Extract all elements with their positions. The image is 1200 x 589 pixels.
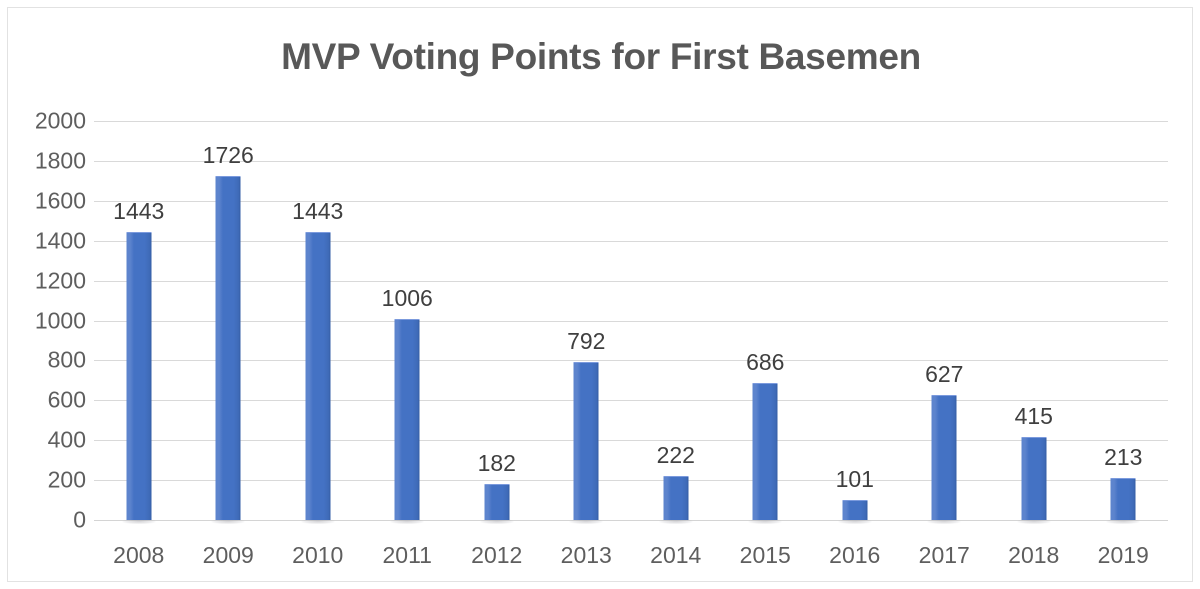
y-axis-tick-label: 0	[16, 507, 86, 534]
chart-frame: MVP Voting Points for First Basemen 2000…	[7, 7, 1193, 582]
y-axis-tick-label: 1400	[16, 227, 86, 254]
bar-slot: 1726	[184, 121, 274, 520]
y-axis-tick-label: 200	[16, 467, 86, 494]
bar[interactable]	[663, 476, 688, 520]
bar[interactable]	[932, 395, 957, 520]
bar[interactable]	[126, 232, 151, 520]
y-axis-tick-label: 1600	[16, 187, 86, 214]
x-axis-tick-label: 2010	[292, 542, 343, 569]
x-axis-tick-label: 2009	[203, 542, 254, 569]
axis-baseline	[94, 520, 1168, 521]
bar-slot: 686	[721, 121, 811, 520]
bar-value-label: 101	[836, 466, 874, 493]
x-axis-tick-label: 2019	[1098, 542, 1149, 569]
x-axis: 2008200920102011201220132014201520162017…	[94, 542, 1168, 582]
y-axis: 2000180016001400120010008006004002000	[8, 121, 86, 520]
y-axis-tick-label: 1800	[16, 147, 86, 174]
y-axis-tick-label: 600	[16, 387, 86, 414]
bar-value-label: 686	[746, 349, 784, 376]
bar[interactable]	[395, 319, 420, 520]
x-axis-tick-label: 2013	[561, 542, 612, 569]
bar-value-label: 415	[1015, 403, 1053, 430]
chart-title: MVP Voting Points for First Basemen	[8, 36, 1194, 78]
bar-value-label: 182	[478, 450, 516, 477]
bar-value-label: 222	[657, 442, 695, 469]
bar[interactable]	[1111, 478, 1136, 520]
bar-slot: 792	[542, 121, 632, 520]
y-axis-tick-label: 800	[16, 347, 86, 374]
bar-slot: 222	[631, 121, 721, 520]
x-axis-tick-label: 2008	[113, 542, 164, 569]
bar-value-label: 1443	[113, 198, 164, 225]
y-axis-tick-label: 2000	[16, 108, 86, 135]
bar-slot: 415	[989, 121, 1079, 520]
x-axis-tick-label: 2015	[740, 542, 791, 569]
bar-slot: 1443	[273, 121, 363, 520]
x-axis-tick-label: 2012	[471, 542, 522, 569]
bar-slot: 1006	[363, 121, 453, 520]
bar-value-label: 1006	[382, 285, 433, 312]
bar[interactable]	[842, 500, 867, 520]
x-axis-tick-label: 2016	[829, 542, 880, 569]
bar-value-label: 792	[567, 328, 605, 355]
x-axis-tick-label: 2014	[650, 542, 701, 569]
x-axis-tick-label: 2011	[383, 542, 432, 569]
y-axis-tick-label: 400	[16, 427, 86, 454]
plot-area: 1443172614431006182792222686101627415213	[94, 121, 1168, 520]
x-axis-tick-label: 2018	[1008, 542, 1059, 569]
bar[interactable]	[216, 176, 241, 520]
bar-value-label: 627	[925, 361, 963, 388]
bar[interactable]	[484, 484, 509, 520]
bar-slot: 627	[900, 121, 990, 520]
x-axis-tick-label: 2017	[919, 542, 970, 569]
y-axis-tick-label: 1000	[16, 307, 86, 334]
bar-slot: 101	[810, 121, 900, 520]
y-axis-tick-label: 1200	[16, 267, 86, 294]
bar[interactable]	[753, 383, 778, 520]
bar[interactable]	[1021, 437, 1046, 520]
bar-slot: 213	[1079, 121, 1169, 520]
bar-value-label: 1726	[203, 142, 254, 169]
bar-value-label: 213	[1104, 444, 1142, 471]
bar[interactable]	[574, 362, 599, 520]
bar-slot: 182	[452, 121, 542, 520]
bar-value-label: 1443	[292, 198, 343, 225]
bar-slot: 1443	[94, 121, 184, 520]
bar[interactable]	[305, 232, 330, 520]
